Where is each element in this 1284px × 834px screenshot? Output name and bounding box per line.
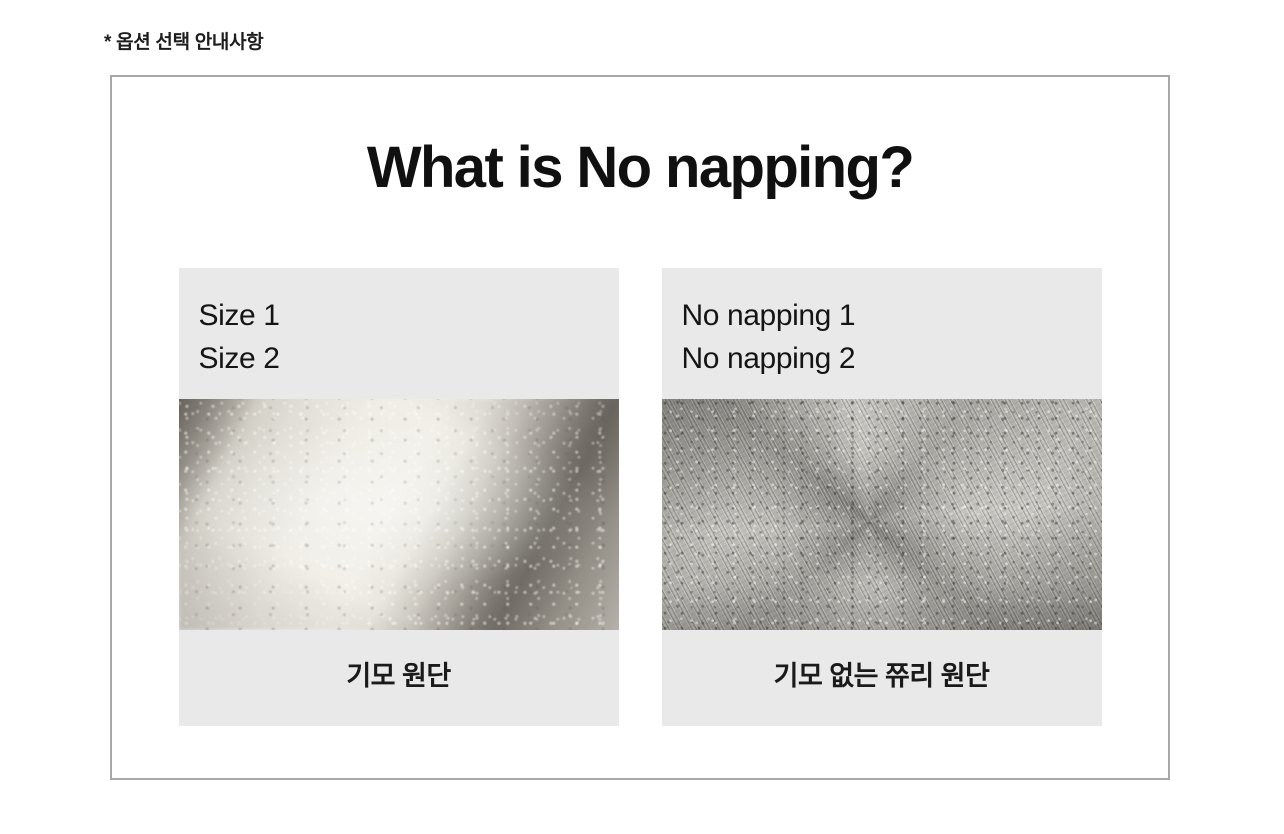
card-header-no-napping: No napping 1 No napping 2 (662, 268, 1102, 399)
card-header-napped: Size 1 Size 2 (179, 268, 619, 399)
heather-grey-terry-fabric-photo (662, 399, 1102, 630)
card-header-line-2: Size 2 (199, 337, 619, 380)
card-header-line-1: No napping 1 (682, 294, 1102, 337)
knit-texture (662, 399, 1102, 630)
comparison-cards: Size 1 Size 2 기모 원단 No napping 1 No napp… (112, 268, 1168, 726)
card-header-line-2: No napping 2 (682, 337, 1102, 380)
card-napped-fabric: Size 1 Size 2 기모 원단 (179, 268, 619, 726)
card-no-napping-fabric: No napping 1 No napping 2 기모 없는 쮸리 원단 (662, 268, 1102, 726)
card-caption-no-napping: 기모 없는 쮸리 원단 (662, 630, 1102, 726)
info-panel: What is No napping? Size 1 Size 2 기모 원단 … (110, 75, 1170, 780)
fleece-texture (179, 399, 619, 630)
option-guide-annotation: * 옵션 선택 안내사항 (104, 27, 263, 54)
panel-title: What is No napping? (112, 139, 1168, 197)
card-header-line-1: Size 1 (199, 294, 619, 337)
card-caption-napped: 기모 원단 (179, 630, 619, 726)
napped-fleece-fabric-photo (179, 399, 619, 630)
